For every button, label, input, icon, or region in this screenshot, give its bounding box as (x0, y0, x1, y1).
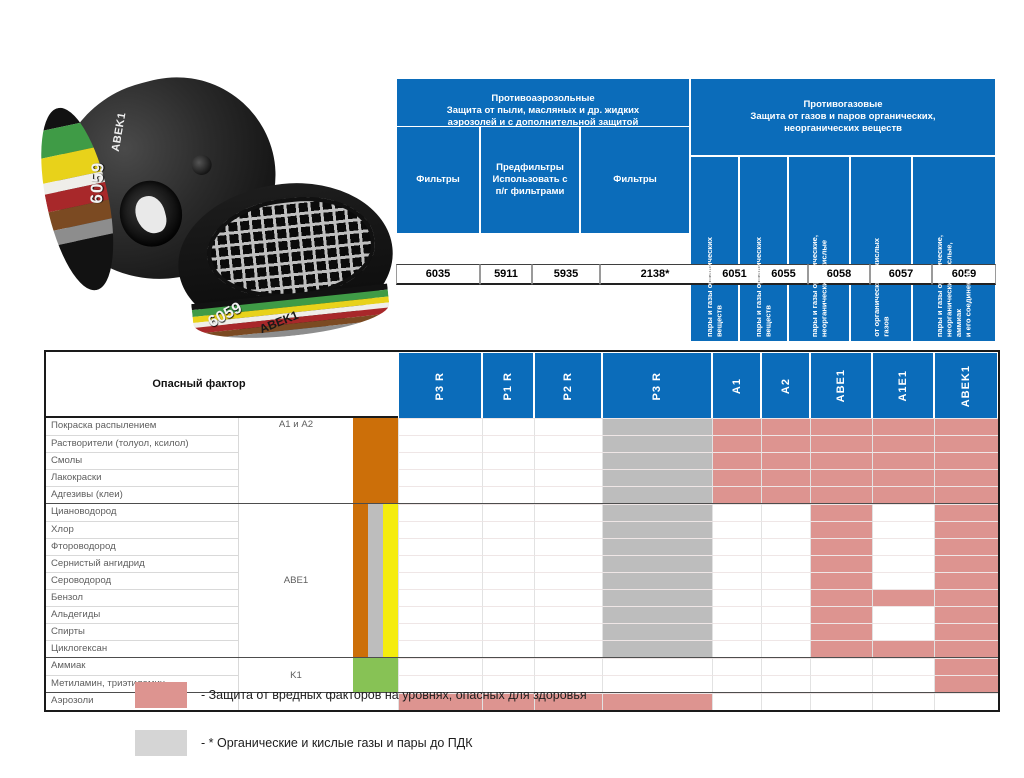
matrix-cell-6051[interactable] (712, 606, 761, 623)
matrix-cell-5935[interactable] (534, 469, 602, 486)
row-cells (398, 486, 998, 503)
matrix-cell-6059[interactable] (934, 675, 998, 692)
colour-strip (352, 435, 398, 452)
row-label: Альдегиды (46, 606, 238, 623)
table-row: Альдегиды (46, 606, 998, 623)
row-label: Смолы (46, 452, 238, 469)
matrix-cell-6051[interactable] (712, 572, 761, 589)
matrix-cell-6057[interactable] (872, 589, 934, 606)
matrix-cell-2138[interactable] (602, 589, 712, 606)
colour-strip (352, 521, 398, 538)
matrix-cell-6055[interactable] (761, 418, 810, 435)
matrix-cell-6035[interactable] (398, 606, 482, 623)
row-cells (398, 504, 998, 521)
table-row: Циклогексан (46, 640, 998, 657)
legend-label-grey: - * Органические и кислые газы и пары до… (201, 736, 473, 750)
model-code-2138[interactable]: 2138* (600, 264, 710, 285)
row-class-cell (238, 606, 352, 623)
matrix-cell-6055[interactable] (761, 693, 810, 710)
matrix-cell-6057[interactable] (872, 504, 934, 521)
model-code-6035[interactable]: 6035 (396, 264, 480, 285)
class-code-p1r-5911[interactable]: P1 R (482, 352, 534, 420)
matrix-cell-6059[interactable] (934, 435, 998, 452)
row-class-cell (238, 623, 352, 640)
matrix-cell-6059[interactable] (934, 469, 998, 486)
matrix-cell-5935[interactable] (534, 452, 602, 469)
header-row-filternames: Фильтры Предфильтры Использовать с п/г ф… (396, 126, 690, 234)
table-group: ЦиановодородХлорФтороводородСернистый ан… (46, 504, 998, 658)
row-cells (398, 640, 998, 657)
row-cells (398, 606, 998, 623)
table-row: Покраска распылением (46, 418, 998, 435)
table-row: Растворители (толуол, ксилол) (46, 435, 998, 452)
matrix-cell-5911[interactable] (482, 452, 534, 469)
row-label: Сернистый ангидрид (46, 555, 238, 572)
matrix-cell-5935[interactable] (534, 606, 602, 623)
matrix-cell-5935[interactable] (534, 435, 602, 452)
prefilters-label: Предфильтры Использовать с п/г фильтрами (480, 126, 580, 234)
legend: - Защита от вредных факторов на уровнях,… (135, 682, 587, 778)
matrix-cell-5911[interactable] (482, 572, 534, 589)
legend-item-pink: - Защита от вредных факторов на уровнях,… (135, 682, 587, 708)
matrix-cell-6055[interactable] (761, 572, 810, 589)
matrix-cell-5911[interactable] (482, 606, 534, 623)
row-label: Сероводород (46, 572, 238, 589)
matrix-cell-6058[interactable] (810, 572, 872, 589)
matrix-cell-6058[interactable] (810, 675, 872, 692)
matrix-cell-6058[interactable] (810, 486, 872, 503)
matrix-cell-6059[interactable] (934, 555, 998, 572)
row-cells (398, 469, 998, 486)
matrix-cell-2138[interactable] (602, 572, 712, 589)
matrix-cell-6055[interactable] (761, 606, 810, 623)
matrix-cell-6058[interactable] (810, 538, 872, 555)
row-class-cell (238, 486, 352, 503)
matrix-cell-6057[interactable] (872, 538, 934, 555)
matrix-cell-6059[interactable] (934, 538, 998, 555)
gas-col-desc-6055: пары и газы органических веществ (739, 156, 788, 342)
row-label: Адгезивы (клеи) (46, 486, 238, 503)
matrix-cell-6035[interactable] (398, 418, 482, 435)
matrix-cell-2138[interactable] (602, 452, 712, 469)
gas-col-desc-6058: пары и газы органические, неорганические… (788, 156, 850, 342)
row-cells (398, 623, 998, 640)
matrix-cell-6059[interactable] (934, 486, 998, 503)
gas-col-desc-6051: пары и газы органических веществ (690, 156, 739, 342)
matrix-cell-5911[interactable] (482, 418, 534, 435)
row-class-cell (238, 504, 352, 521)
matrix-cell-6055[interactable] (761, 675, 810, 692)
class-code-p3r-6035[interactable]: P3 R (398, 352, 482, 420)
matrix-cell-6051[interactable] (712, 623, 761, 640)
class-code-a2-6055[interactable]: A2 (761, 352, 810, 420)
matrix-cell-6058[interactable] (810, 521, 872, 538)
matrix-cell-6057[interactable] (872, 658, 934, 675)
colour-strip-head (352, 352, 398, 416)
row-class-cell (238, 538, 352, 555)
matrix-cell-6055[interactable] (761, 486, 810, 503)
matrix-cell-6057[interactable] (872, 572, 934, 589)
group-header-gas: Противогазовые Защита от газов и паров о… (690, 78, 996, 156)
row-label: Растворители (толуол, ксилол) (46, 435, 238, 452)
matrix-cell-6055[interactable] (761, 623, 810, 640)
row-cells (398, 435, 998, 452)
matrix-cell-6055[interactable] (761, 469, 810, 486)
matrix-cell-6035[interactable] (398, 452, 482, 469)
matrix-cell-6051[interactable] (712, 589, 761, 606)
matrix-cell-6059[interactable] (934, 640, 998, 657)
matrix-cell-6051[interactable] (712, 658, 761, 675)
table-head: Опасный фактор P3 R P1 R P2 R P3 R A1 A2… (46, 352, 998, 418)
row-class-cell (238, 452, 352, 469)
matrix-cell-6055[interactable] (761, 521, 810, 538)
matrix-cell-5935[interactable] (534, 521, 602, 538)
row-class-cell (238, 435, 352, 452)
matrix-cell-6058[interactable] (810, 469, 872, 486)
table-body: Покраска распылениемРастворители (толуол… (46, 418, 998, 710)
legend-item-grey: - * Органические и кислые газы и пары до… (135, 730, 587, 756)
row-class-cell (238, 555, 352, 572)
table-row: Адгезивы (клеи) (46, 486, 998, 503)
matrix-cell-6051[interactable] (712, 538, 761, 555)
row-class-cell (238, 418, 352, 435)
colour-strip (352, 538, 398, 555)
matrix-cell-6055[interactable] (761, 640, 810, 657)
colour-strip (352, 486, 398, 503)
row-class-cell (238, 469, 352, 486)
matrix-cell-6051[interactable] (712, 486, 761, 503)
matrix-cell-6055[interactable] (761, 658, 810, 675)
row-class-cell (238, 589, 352, 606)
matrix-cell-6059[interactable] (934, 693, 998, 710)
legend-swatch-pink (135, 682, 187, 708)
row-cells (398, 452, 998, 469)
table-row: Фтороводород (46, 538, 998, 555)
matrix-cell-6057[interactable] (872, 623, 934, 640)
matrix-cell-6035[interactable] (398, 555, 482, 572)
matrix-cell-6035[interactable] (398, 658, 482, 675)
gas-col-desc-6059: пары и газы органические, неорганические… (912, 156, 996, 342)
matrix-cell-2138[interactable] (602, 486, 712, 503)
legend-swatch-grey (135, 730, 187, 756)
matrix-cell-6059[interactable] (934, 452, 998, 469)
gas-col-desc-6057: от органических и кислых газов (850, 156, 912, 342)
matrix-cell-5935[interactable] (534, 555, 602, 572)
matrix-cell-5911[interactable] (482, 640, 534, 657)
table-row: Сероводород (46, 572, 998, 589)
matrix-cell-6058[interactable] (810, 452, 872, 469)
matrix-cell-2138[interactable] (602, 504, 712, 521)
matrix-cell-6035[interactable] (398, 538, 482, 555)
matrix-cell-6055[interactable] (761, 555, 810, 572)
matrix-cell-6057[interactable] (872, 521, 934, 538)
matrix-cell-6051[interactable] (712, 693, 761, 710)
matrix-cell-6051[interactable] (712, 452, 761, 469)
matrix-cell-2138[interactable] (602, 469, 712, 486)
matrix-cell-6035[interactable] (398, 640, 482, 657)
row-label: Лакокраски (46, 469, 238, 486)
model-code-5935[interactable]: 5935 (532, 264, 600, 285)
cartridge-model-label-back: 6059 (87, 161, 108, 204)
matrix-cell-6058[interactable] (810, 418, 872, 435)
colour-strip (352, 555, 398, 572)
row-class-cell (238, 640, 352, 657)
row-label: Циановодород (46, 504, 238, 521)
matrix-cell-2138[interactable] (602, 623, 712, 640)
matrix-cell-6051[interactable] (712, 521, 761, 538)
matrix-cell-6035[interactable] (398, 504, 482, 521)
matrix-cell-5935[interactable] (534, 418, 602, 435)
colour-strip (352, 452, 398, 469)
matrix-cell-5935[interactable] (534, 504, 602, 521)
matrix-cell-6035[interactable] (398, 469, 482, 486)
matrix-cell-6059[interactable] (934, 572, 998, 589)
matrix-cell-6035[interactable] (398, 623, 482, 640)
table-row: Сернистый ангидрид (46, 555, 998, 572)
matrix-cell-6035[interactable] (398, 486, 482, 503)
matrix-cell-5911[interactable] (482, 623, 534, 640)
table-row: Хлор (46, 521, 998, 538)
table-row: Циановодород (46, 504, 998, 521)
matrix-cell-6058[interactable] (810, 589, 872, 606)
matrix-cell-6055[interactable] (761, 504, 810, 521)
model-code-5911[interactable]: 5911 (480, 264, 532, 285)
matrix-cell-6059[interactable] (934, 606, 998, 623)
matrix-cell-6057[interactable] (872, 418, 934, 435)
row-label: Спирты (46, 623, 238, 640)
filter-cartridge-front: 6059 ABEK1 (171, 173, 401, 345)
matrix-cell-6058[interactable] (810, 504, 872, 521)
colour-strip (352, 623, 398, 640)
model-code-row: 6035 5911 5935 2138* 6051 6055 6058 6057… (396, 264, 996, 285)
matrix-cell-2138[interactable] (602, 606, 712, 623)
table-row: Спирты (46, 623, 998, 640)
matrix-cell-6035[interactable] (398, 521, 482, 538)
matrix-cell-2138[interactable] (602, 640, 712, 657)
row-class-cell (238, 521, 352, 538)
protection-matrix-table: Опасный фактор P3 R P1 R P2 R P3 R A1 A2… (44, 350, 1000, 712)
matrix-cell-5911[interactable] (482, 504, 534, 521)
matrix-cell-6059[interactable] (934, 589, 998, 606)
table-row: Бензол (46, 589, 998, 606)
matrix-cell-6035[interactable] (398, 589, 482, 606)
matrix-cell-2138[interactable] (602, 435, 712, 452)
matrix-cell-6057[interactable] (872, 693, 934, 710)
matrix-cell-6057[interactable] (872, 640, 934, 657)
matrix-cell-6051[interactable] (712, 418, 761, 435)
row-cells (398, 521, 998, 538)
matrix-cell-6051[interactable] (712, 555, 761, 572)
matrix-cell-5935[interactable] (534, 572, 602, 589)
matrix-cell-6035[interactable] (398, 572, 482, 589)
legend-label-pink: - Защита от вредных факторов на уровнях,… (201, 688, 587, 702)
matrix-cell-6058[interactable] (810, 640, 872, 657)
product-photo: 6059 ABEK1 6059 ABEK1 (28, 62, 388, 342)
table-row: Аммиак (46, 658, 998, 675)
row-class-cell (238, 658, 352, 675)
matrix-cell-2138[interactable] (602, 418, 712, 435)
row-cells (398, 538, 998, 555)
colour-strip (352, 658, 398, 675)
matrix-cell-6055[interactable] (761, 589, 810, 606)
row-label: Покраска распылением (46, 418, 238, 435)
matrix-cell-6057[interactable] (872, 606, 934, 623)
row-cells (398, 572, 998, 589)
colour-strip (352, 589, 398, 606)
matrix-cell-6051[interactable] (712, 469, 761, 486)
matrix-cell-5911[interactable] (482, 486, 534, 503)
matrix-cell-6059[interactable] (934, 623, 998, 640)
row-cells (398, 589, 998, 606)
matrix-cell-6055[interactable] (761, 452, 810, 469)
matrix-cell-6051[interactable] (712, 435, 761, 452)
row-label: Аммиак (46, 658, 238, 675)
class-code-p3r-2138[interactable]: P3 R (602, 352, 712, 420)
matrix-cell-6055[interactable] (761, 538, 810, 555)
matrix-cell-5935[interactable] (534, 623, 602, 640)
matrix-cell-2138[interactable] (602, 555, 712, 572)
matrix-cell-6058[interactable] (810, 693, 872, 710)
matrix-cell-5935[interactable] (534, 589, 602, 606)
colour-strip (352, 418, 398, 435)
table-group: Покраска распылениемРастворители (толуол… (46, 418, 998, 504)
class-code-a1-6051[interactable]: A1 (712, 352, 761, 420)
matrix-cell-2138[interactable] (602, 693, 712, 710)
matrix-cell-6058[interactable] (810, 435, 872, 452)
table-row: Лакокраски (46, 469, 998, 486)
class-code-row: P3 R P1 R P2 R P3 R A1 A2 ABE1 A1E1 ABEK… (398, 352, 998, 420)
matrix-cell-5911[interactable] (482, 435, 534, 452)
row-label: Фтороводород (46, 538, 238, 555)
matrix-cell-6058[interactable] (810, 623, 872, 640)
matrix-cell-6059[interactable] (934, 658, 998, 675)
matrix-cell-6059[interactable] (934, 418, 998, 435)
matrix-cell-5911[interactable] (482, 521, 534, 538)
matrix-cell-5911[interactable] (482, 658, 534, 675)
matrix-cell-5935[interactable] (534, 486, 602, 503)
matrix-cell-6059[interactable] (934, 521, 998, 538)
table-row: Смолы (46, 452, 998, 469)
matrix-cell-6057[interactable] (872, 555, 934, 572)
matrix-cell-6051[interactable] (712, 504, 761, 521)
page-title: Опасный фактор (46, 352, 352, 416)
matrix-cell-5935[interactable] (534, 538, 602, 555)
matrix-cell-6058[interactable] (810, 658, 872, 675)
filters-label-1: Фильтры (396, 126, 480, 234)
filters-label-2: Фильтры (580, 126, 690, 234)
matrix-cell-2138[interactable] (602, 658, 712, 675)
matrix-cell-5911[interactable] (482, 538, 534, 555)
colour-strip (352, 504, 398, 521)
class-code-p2r-5935[interactable]: P2 R (534, 352, 602, 420)
table-header-block: Противоаэрозольные Защита от пыли, масля… (396, 78, 996, 285)
matrix-cell-5911[interactable] (482, 589, 534, 606)
row-cells (398, 418, 998, 435)
matrix-cell-6057[interactable] (872, 469, 934, 486)
matrix-cell-6057[interactable] (872, 486, 934, 503)
row-label: Хлор (46, 521, 238, 538)
colour-strip (352, 469, 398, 486)
class-code-a1e1-6057[interactable]: A1E1 (872, 352, 934, 420)
class-code-abe1-6058[interactable]: ABE1 (810, 352, 872, 420)
colour-strip (352, 606, 398, 623)
matrix-cell-5911[interactable] (482, 555, 534, 572)
matrix-cell-2138[interactable] (602, 521, 712, 538)
matrix-cell-5935[interactable] (534, 640, 602, 657)
row-label: Циклогексан (46, 640, 238, 657)
matrix-cell-6057[interactable] (872, 452, 934, 469)
class-code-abek1-6059[interactable]: ABEK1 (934, 352, 998, 420)
matrix-cell-6058[interactable] (810, 555, 872, 572)
poster-root: 6059 ABEK1 6059 ABEK1 Про (0, 0, 1024, 768)
matrix-cell-6051[interactable] (712, 675, 761, 692)
row-cells (398, 658, 998, 675)
colour-strip (352, 572, 398, 589)
matrix-cell-5935[interactable] (534, 658, 602, 675)
row-class-cell (238, 572, 352, 589)
matrix-cell-6059[interactable] (934, 504, 998, 521)
row-cells (398, 555, 998, 572)
matrix-cell-6035[interactable] (398, 435, 482, 452)
matrix-cell-6051[interactable] (712, 640, 761, 657)
matrix-cell-6058[interactable] (810, 606, 872, 623)
matrix-cell-6057[interactable] (872, 675, 934, 692)
matrix-cell-6057[interactable] (872, 435, 934, 452)
matrix-cell-6055[interactable] (761, 435, 810, 452)
matrix-cell-2138[interactable] (602, 538, 712, 555)
colour-strip (352, 640, 398, 657)
matrix-cell-2138[interactable] (602, 675, 712, 692)
matrix-cell-5911[interactable] (482, 469, 534, 486)
row-label: Бензол (46, 589, 238, 606)
